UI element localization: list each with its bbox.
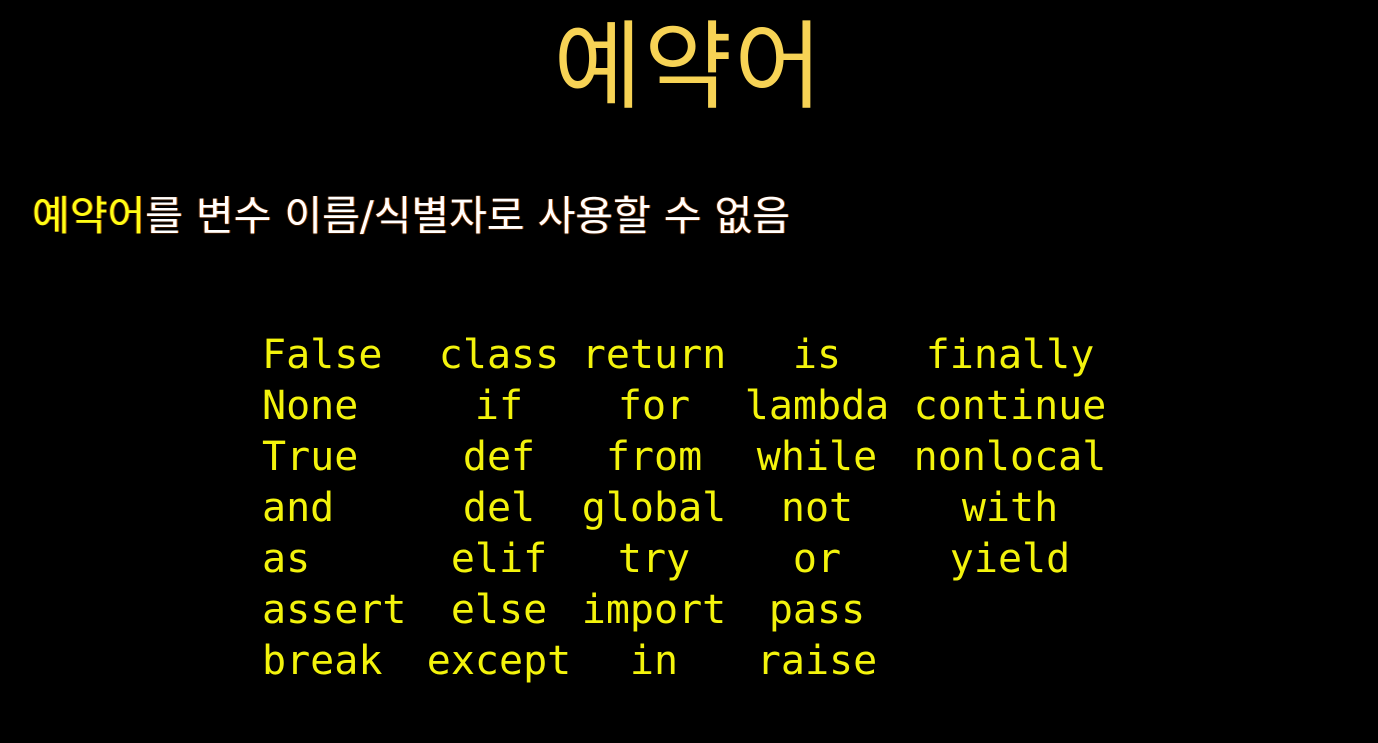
keyword-cell: assert	[262, 585, 424, 636]
keyword-cell: import	[574, 585, 734, 636]
keyword-cell: for	[574, 381, 734, 432]
table-row: True def from while nonlocal	[262, 432, 1120, 483]
keyword-cell: class	[424, 330, 574, 381]
keyword-cell: None	[262, 381, 424, 432]
keyword-cell: elif	[424, 534, 574, 585]
keyword-cell: in	[574, 636, 734, 687]
keyword-cell: or	[734, 534, 900, 585]
keyword-cell: def	[424, 432, 574, 483]
keyword-cell: finally	[900, 330, 1120, 381]
keyword-cell: while	[734, 432, 900, 483]
keyword-cell: True	[262, 432, 424, 483]
keyword-cell: with	[900, 483, 1120, 534]
table-row: and del global not with	[262, 483, 1120, 534]
keyword-cell: is	[734, 330, 900, 381]
table-row: None if for lambda continue	[262, 381, 1120, 432]
table-row: break except in raise	[262, 636, 1120, 687]
table-row: False class return is finally	[262, 330, 1120, 381]
keyword-cell: yield	[900, 534, 1120, 585]
keyword-cell: from	[574, 432, 734, 483]
keyword-cell: not	[734, 483, 900, 534]
keyword-cell: else	[424, 585, 574, 636]
keyword-cell: global	[574, 483, 734, 534]
table-row: assert else import pass	[262, 585, 1120, 636]
keyword-cell: as	[262, 534, 424, 585]
page-title: 예약어	[0, 6, 1378, 128]
subtitle-line: 예약어를 변수 이름/식별자로 사용할 수 없음	[32, 188, 790, 244]
keyword-cell: return	[574, 330, 734, 381]
table-row: as elif try or yield	[262, 534, 1120, 585]
keyword-cell: and	[262, 483, 424, 534]
keyword-cell: pass	[734, 585, 900, 636]
subtitle-highlight: 예약어	[32, 192, 145, 240]
keyword-cell: if	[424, 381, 574, 432]
keyword-cell	[900, 636, 1120, 687]
keyword-cell: lambda	[734, 381, 900, 432]
keyword-cell: break	[262, 636, 424, 687]
keyword-cell: except	[424, 636, 574, 687]
presentation-slide: 예약어 예약어를 변수 이름/식별자로 사용할 수 없음 False class…	[0, 0, 1378, 743]
keyword-table-body: False class return is finally None if fo…	[262, 330, 1120, 687]
subtitle-rest: 를 변수 이름/식별자로 사용할 수 없음	[145, 192, 790, 240]
keyword-cell: False	[262, 330, 424, 381]
keyword-table: False class return is finally None if fo…	[262, 330, 1120, 687]
keyword-cell: continue	[900, 381, 1120, 432]
keyword-cell: raise	[734, 636, 900, 687]
keyword-cell	[900, 585, 1120, 636]
keyword-cell: del	[424, 483, 574, 534]
keyword-cell: try	[574, 534, 734, 585]
keyword-cell: nonlocal	[900, 432, 1120, 483]
